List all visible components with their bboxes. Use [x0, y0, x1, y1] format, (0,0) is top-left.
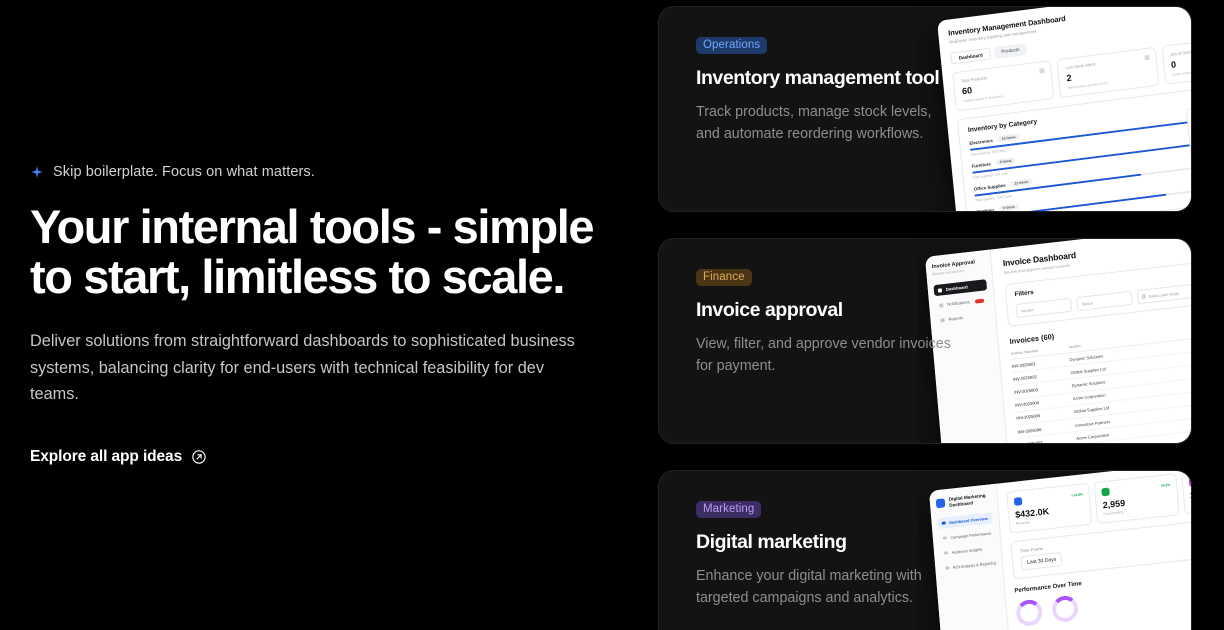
stat-label: Out of Stock — [1170, 42, 1192, 57]
filters-title: Filters — [1014, 264, 1192, 298]
card-description: View, filter, and approve vendor invoice… — [696, 333, 959, 377]
filter-label: Status — [1081, 300, 1092, 306]
hero-heading-line-2: to start, limitless to scale. — [30, 250, 564, 303]
cell-invoice-number: INV-2025007 — [1018, 436, 1076, 443]
preview-main: +14.8% $432.0K Revenue +8.3% — [997, 471, 1192, 630]
table-header-row: Invoice Number Vendor — [1011, 323, 1192, 360]
stat-hint: Items unavailable — [1172, 63, 1192, 77]
category-row: Furniture 8 items $27,987.87 Total quant… — [971, 127, 1192, 180]
hero-eyebrow-text: Skip boilerplate. Focus on what matters. — [53, 164, 315, 180]
panel-title: Inventory by Category — [968, 91, 1192, 134]
notification-count-badge — [975, 298, 984, 303]
box-icon — [1040, 68, 1045, 74]
category-name: Office Supplies — [974, 182, 1006, 191]
cell-vendor: Dynamic Solutions — [1069, 353, 1103, 362]
card-title: Digital marketing — [696, 531, 959, 554]
table-row[interactable]: INV-2025003 Dynamic Solutions — [1014, 357, 1192, 399]
kpi-value: 2,959 — [1102, 493, 1171, 510]
app-idea-card-rail: Operations Inventory management tool Tra… — [640, 0, 1224, 630]
status-badge-finance: Finance — [696, 269, 752, 286]
sparkle-icon — [30, 165, 44, 179]
cell-vendor: Acme Corporation — [1073, 393, 1106, 402]
time-frame-select[interactable]: Last 30 Days — [1021, 552, 1063, 570]
category-meta: Total quantity: 430 units — [977, 186, 1192, 211]
category-meta: Total quantity: 1500 units — [975, 163, 1192, 203]
filter-status-select[interactable]: Status — [1076, 291, 1133, 311]
app-idea-card-invoice[interactable]: Finance Invoice approval View, filter, a… — [658, 238, 1192, 444]
stat-label: Total Products — [961, 68, 1044, 83]
table-row[interactable]: INV-2025002 Global Supplies Ltd — [1012, 344, 1192, 386]
cell-vendor: Innovative Partners — [1075, 419, 1110, 428]
stat-value: 2 — [1066, 63, 1150, 83]
marketing-dashboard-preview: Digital Marketing Dashboard Dashboard Ov… — [929, 471, 1192, 630]
kpi-value: $432.0K — [1015, 502, 1084, 519]
preview-subheading: Review and approve vendor invoices — [1003, 241, 1192, 275]
card-copy: Marketing Digital marketing Enhance your… — [659, 471, 959, 609]
kpi-card-revenue: +14.8% $432.0K Revenue — [1006, 483, 1092, 534]
card-description: Enhance your digital marketing with targ… — [696, 565, 959, 609]
stock-status-panel: Stock Status In Stock Low Stock Out — [1186, 98, 1192, 167]
table-row[interactable]: INV-2025005 Global Supplies Ltd — [1016, 383, 1192, 425]
cell-invoice-number: INV-2025003 — [1014, 383, 1072, 395]
stat-card-total-products: Total Products 60 Unique items in invent… — [952, 60, 1054, 111]
kpi-delta: +8.3% — [1160, 483, 1170, 488]
landing-hero-section: Skip boilerplate. Focus on what matters.… — [0, 0, 1224, 630]
stat-card-low-stock-alerts: Low Stock Alerts 2 Items below reorder l… — [1057, 47, 1159, 98]
category-count: 8 items — [995, 157, 1016, 165]
preview-tabs: Dashboard Products — [950, 14, 1192, 65]
category-count: 15 items — [997, 134, 1019, 143]
stat-hint: Unique items in inventory — [963, 89, 1046, 103]
chart-icon — [1189, 478, 1192, 487]
chart-title: Performance Over Time — [1014, 560, 1192, 594]
status-badge-operations: Operations — [696, 37, 767, 54]
kpi-card-conversions: +8.3% 2,959 Conversions — [1094, 473, 1180, 524]
card-copy: Operations Inventory management tool Tra… — [659, 7, 959, 145]
table-row[interactable]: INV-2025004 Acme Corporation — [1015, 370, 1192, 412]
donut-chart — [1015, 599, 1043, 628]
cell-invoice-number: INV-2025005 — [1016, 409, 1074, 421]
stat-value: 0 — [1171, 50, 1192, 70]
app-idea-card-marketing[interactable]: Marketing Digital marketing Enhance your… — [658, 470, 1192, 630]
filter-label: Select date range — [1148, 290, 1179, 298]
alert-icon — [1144, 55, 1149, 61]
filter-date-range-picker[interactable]: Select date range — [1137, 284, 1192, 304]
category-meta: Total quantity: 820 units — [970, 117, 1192, 157]
kpi-label: CTR — [1191, 495, 1192, 506]
kpi-row: +14.8% $432.0K Revenue +8.3% — [1006, 471, 1192, 534]
preview-subtitle: Real-time inventory tracking and managem… — [949, 7, 1192, 45]
invoice-table: Invoice Number Vendor INV-2025001 Dynami… — [1011, 323, 1192, 443]
time-frame-panel: Time Frame Last 30 Days — [1010, 514, 1192, 580]
arrow-up-right-circle-icon — [191, 449, 207, 465]
preview-heading: Invoice Dashboard — [1002, 239, 1192, 268]
calendar-icon — [1142, 295, 1146, 299]
preview-stat-cards: Total Products 60 Unique items in invent… — [952, 34, 1192, 112]
dollar-icon — [1014, 497, 1023, 506]
column-header-invoice-number: Invoice Number — [1011, 345, 1069, 356]
cell-invoice-number: INV-2025006 — [1017, 423, 1075, 435]
cell-invoice-number: INV-2025001 — [1012, 357, 1070, 369]
cell-invoice-number: INV-2025004 — [1015, 396, 1073, 408]
kpi-delta: +14.8% — [1071, 492, 1083, 497]
explore-all-app-ideas-link[interactable]: Explore all app ideas — [30, 448, 207, 466]
chart-area — [1015, 573, 1192, 627]
filter-vendor-select[interactable]: Vendor — [1015, 298, 1072, 318]
table-row[interactable]: INV-2025001 Dynamic Solutions — [1011, 331, 1192, 373]
tab-products[interactable]: Products — [994, 43, 1027, 59]
cell-invoice-number: INV-2025002 — [1013, 370, 1071, 382]
invoice-dashboard-preview: Invoice Approval Manage and approve Dash… — [925, 239, 1192, 443]
stat-hint: Items below reorder level — [1067, 76, 1150, 90]
filter-label: Vendor — [1021, 307, 1034, 313]
cell-vendor: Dynamic Solutions — [1072, 379, 1106, 388]
donut-chart — [1051, 595, 1079, 624]
table-row[interactable]: INV-2025006 Innovative Partners — [1017, 397, 1192, 439]
stat-value: 60 — [962, 76, 1046, 96]
status-badge-marketing: Marketing — [696, 501, 761, 518]
category-name: Clothing — [976, 207, 994, 211]
page-title: Your internal tools - simple to start, l… — [30, 202, 600, 303]
preview-main: Invoice Dashboard Review and approve ven… — [991, 239, 1192, 443]
target-icon — [1101, 488, 1110, 497]
invoice-list-title: Invoices (60) — [1009, 308, 1192, 346]
sidebar-item-label: ROI Analysis & Reporting — [953, 560, 997, 570]
hero-copy-column: Skip boilerplate. Focus on what matters.… — [0, 0, 640, 630]
cell-vendor: Global Supplies Ltd — [1070, 366, 1106, 375]
category-meta: Total quantity: 120 units — [973, 140, 1192, 180]
inventory-dashboard-preview: Inventory Management Dashboard Real-time… — [937, 7, 1192, 211]
category-progress-bar — [972, 135, 1192, 174]
card-copy: Finance Invoice approval View, filter, a… — [659, 239, 959, 377]
kpi-value: 3.91% — [1190, 483, 1192, 500]
stat-card-out-of-stock: Out of Stock 0 Items unavailable — [1161, 34, 1192, 85]
preview-title: Inventory Management Dashboard — [948, 7, 1192, 38]
cell-vendor: Global Supplies Ltd — [1074, 405, 1110, 414]
hero-heading-line-1: Your internal tools - simple — [30, 200, 593, 253]
hero-description: Deliver solutions from straightforward d… — [30, 328, 590, 407]
time-frame-label: Time Frame — [1020, 522, 1192, 553]
category-row: Office Supplies 21 items $16,081.12 Tota… — [974, 150, 1192, 203]
cell-vendor: Acme Corporation — [1076, 432, 1109, 441]
category-name: Electronics — [969, 137, 993, 145]
inventory-by-category-panel: Inventory by Category Electronics 15 ite… — [957, 80, 1192, 211]
kpi-label: Conversions — [1103, 505, 1172, 516]
hero-eyebrow: Skip boilerplate. Focus on what matters. — [30, 164, 600, 180]
cta-label: Explore all app ideas — [30, 448, 182, 466]
table-row[interactable]: INV-2025007 Acme Corporation — [1018, 410, 1192, 443]
app-idea-card-inventory[interactable]: Operations Inventory management tool Tra… — [658, 6, 1192, 212]
category-name: Furniture — [971, 161, 991, 168]
kpi-card-ctr: +2.1% 3.91% CTR — [1181, 471, 1192, 515]
card-description: Track products, manage stock levels, and… — [696, 101, 959, 145]
category-count: 9 items — [998, 204, 1019, 211]
category-row: Electronics 15 items $35,890.00 Total qu… — [969, 104, 1192, 157]
category-progress-bar — [977, 181, 1192, 211]
category-row: Clothing 9 items $9,422.70 Total quantit… — [976, 173, 1192, 211]
column-header-vendor: Vendor — [1068, 344, 1081, 349]
kpi-label: Revenue — [1016, 514, 1085, 525]
category-progress-bar — [974, 158, 1192, 197]
card-title: Inventory management tool — [696, 67, 959, 90]
filters-panel: Filters Vendor Status — [1005, 255, 1192, 327]
card-title: Invoice approval — [696, 299, 959, 322]
category-count: 21 items — [1010, 179, 1032, 188]
stat-label: Low Stock Alerts — [1065, 55, 1148, 70]
category-progress-bar — [970, 112, 1192, 151]
